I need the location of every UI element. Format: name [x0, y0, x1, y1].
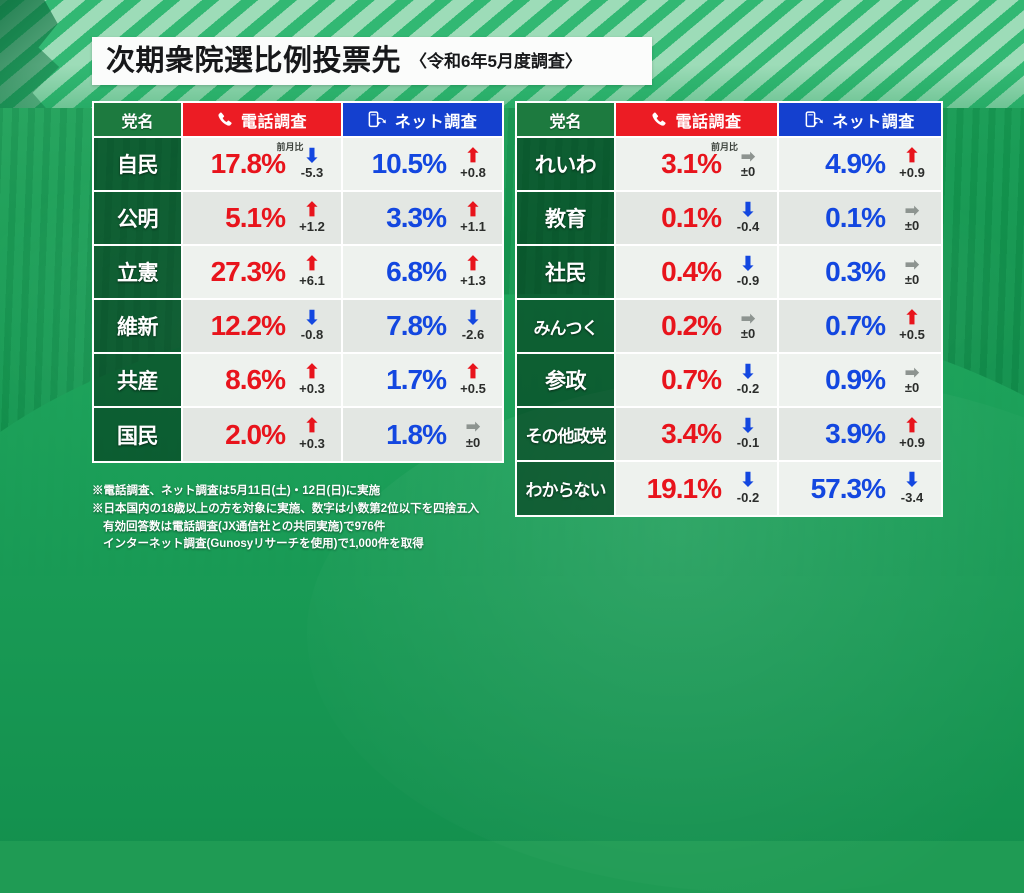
net-value-cell: 0.1%➡±0 [778, 191, 941, 245]
phone-value-cell: 19.1%⬇-0.2 [615, 461, 778, 515]
net-value-cell: 7.8%⬇-2.6 [342, 299, 502, 353]
net-percentage: 3.9% [825, 420, 885, 448]
trend-flat-arrow-icon: ➡ [741, 150, 755, 164]
delta-value: -0.8 [301, 328, 323, 341]
delta-value: ±0 [905, 219, 919, 232]
poll-table-left-body: 自民17.8%前月比⬇-5.310.5%⬆+0.8公明5.1%⬆+1.23.3%… [94, 137, 502, 461]
table-row: 参政0.7%⬇-0.20.9%➡±0 [517, 353, 941, 407]
phone-delta: ⬆+1.2 [291, 203, 333, 233]
phone-delta: ⬇-0.9 [727, 257, 769, 287]
net-percentage: 1.8% [386, 421, 446, 449]
phone-percentage: 0.1% [661, 204, 721, 232]
table-row: 公明5.1%⬆+1.23.3%⬆+1.1 [94, 191, 502, 245]
table-row: わからない19.1%⬇-0.257.3%⬇-3.4 [517, 461, 941, 515]
party-name-cell: 参政 [517, 353, 615, 407]
party-name-cell: 立憲 [94, 245, 182, 299]
party-name-cell: 国民 [94, 407, 182, 461]
delta-value: -0.9 [737, 274, 759, 287]
table-row: 国民2.0%⬆+0.31.8%➡±0 [94, 407, 502, 461]
table-row: れいわ3.1%前月比➡±04.9%⬆+0.9 [517, 137, 941, 191]
net-value-cell: 3.9%⬆+0.9 [778, 407, 941, 461]
party-name-cell: 自民 [94, 137, 182, 191]
phone-value-cell: 8.6%⬆+0.3 [182, 353, 342, 407]
phone-value-cell: 3.1%前月比➡±0 [615, 137, 778, 191]
net-delta: ⬇-3.4 [891, 473, 933, 503]
phone-value-cell: 0.2%➡±0 [615, 299, 778, 353]
trend-up-arrow-icon: ⬆ [304, 203, 320, 219]
trend-down-arrow-icon: ⬇ [304, 149, 320, 165]
delta-value: -5.3 [301, 166, 323, 179]
phone-percentage: 17.8% [211, 150, 285, 178]
party-name-cell: 公明 [94, 191, 182, 245]
trend-down-arrow-icon: ⬇ [740, 419, 756, 435]
trend-down-arrow-icon: ⬇ [740, 257, 756, 273]
column-header-net-label: ネット調査 [395, 108, 478, 132]
net-delta: ⬆+1.3 [452, 257, 494, 287]
trend-flat-arrow-icon: ➡ [466, 420, 480, 434]
column-header-net-label: ネット調査 [832, 108, 915, 132]
net-value-cell: 4.9%⬆+0.9 [778, 137, 941, 191]
phone-value-cell: 0.1%⬇-0.4 [615, 191, 778, 245]
phone-percentage: 19.1% [647, 475, 721, 503]
trend-up-arrow-icon: ⬆ [465, 203, 481, 219]
month-over-month-label: 前月比 [711, 140, 738, 153]
smartphone-cursor-icon [368, 111, 388, 129]
trend-up-arrow-icon: ⬆ [465, 149, 481, 165]
phone-value-cell: 27.3%⬆+6.1 [182, 245, 342, 299]
delta-value: +0.9 [899, 166, 925, 179]
phone-percentage: 0.7% [661, 366, 721, 394]
delta-value: ±0 [905, 381, 919, 394]
net-delta: ⬆+1.1 [452, 203, 494, 233]
trend-down-arrow-icon: ⬇ [740, 473, 756, 489]
month-over-month-label: 前月比 [276, 140, 303, 153]
table-header-row: 党名 電話調査 [517, 103, 941, 137]
delta-value: +0.3 [299, 437, 325, 450]
column-header-phone-label: 電話調査 [675, 108, 741, 132]
net-percentage: 3.3% [386, 204, 446, 232]
poll-table-right-grid: 党名 電話調査 [517, 103, 941, 515]
delta-value: ±0 [905, 273, 919, 286]
party-name-cell: れいわ [517, 137, 615, 191]
delta-value: +6.1 [299, 274, 325, 287]
poll-table-left: 党名 電話調査 [92, 101, 504, 463]
trend-up-arrow-icon: ⬆ [304, 419, 320, 435]
table-row: 維新12.2%⬇-0.87.8%⬇-2.6 [94, 299, 502, 353]
footnote-1: ※電話調査、ネット調査は5月11日(土)・12日(日)に実施 [92, 483, 522, 501]
smartphone-cursor-icon [805, 111, 825, 129]
trend-up-arrow-icon: ⬆ [904, 311, 920, 327]
phone-delta: ➡±0 [727, 312, 769, 340]
phone-value-cell: 3.4%⬇-0.1 [615, 407, 778, 461]
net-percentage: 6.8% [386, 258, 446, 286]
telephone-handset-icon [217, 111, 234, 128]
trend-flat-arrow-icon: ➡ [741, 312, 755, 326]
party-name-cell: みんつく [517, 299, 615, 353]
poll-table-right-body: れいわ3.1%前月比➡±04.9%⬆+0.9教育0.1%⬇-0.40.1%➡±0… [517, 137, 941, 515]
phone-percentage: 3.1% [661, 150, 721, 178]
trend-down-arrow-icon: ⬇ [740, 365, 756, 381]
trend-down-arrow-icon: ⬇ [465, 311, 481, 327]
net-value-cell: 1.7%⬆+0.5 [342, 353, 502, 407]
delta-value: +1.1 [460, 220, 486, 233]
phone-delta: 前月比➡±0 [727, 150, 769, 178]
page-subtitle: 〈令和6年5月度調査〉 [410, 53, 582, 70]
net-delta: ⬇-2.6 [452, 311, 494, 341]
phone-percentage: 8.6% [225, 366, 285, 394]
title-band: 次期衆院選比例投票先 〈令和6年5月度調査〉 [92, 37, 652, 85]
phone-delta: ⬇-0.1 [727, 419, 769, 449]
phone-delta: ⬇-0.2 [727, 473, 769, 503]
column-header-net-survey: ネット調査 [342, 103, 502, 137]
party-name-cell: 社民 [517, 245, 615, 299]
trend-up-arrow-icon: ⬆ [465, 257, 481, 273]
net-percentage: 1.7% [386, 366, 446, 394]
phone-delta: ⬇-0.4 [727, 203, 769, 233]
table-row: 立憲27.3%⬆+6.16.8%⬆+1.3 [94, 245, 502, 299]
column-header-party: 党名 [517, 103, 615, 137]
phone-value-cell: 2.0%⬆+0.3 [182, 407, 342, 461]
net-percentage: 4.9% [825, 150, 885, 178]
party-name-cell: その他政党 [517, 407, 615, 461]
net-value-cell: 0.9%➡±0 [778, 353, 941, 407]
phone-value-cell: 5.1%⬆+1.2 [182, 191, 342, 245]
delta-value: -0.1 [737, 436, 759, 449]
net-value-cell: 6.8%⬆+1.3 [342, 245, 502, 299]
poll-table-left-grid: 党名 電話調査 [94, 103, 502, 461]
table-row: 自民17.8%前月比⬇-5.310.5%⬆+0.8 [94, 137, 502, 191]
table-row: みんつく0.2%➡±00.7%⬆+0.5 [517, 299, 941, 353]
footnote-4: インターネット調査(Gunosyリサーチを使用)で1,000件を取得 [92, 536, 522, 554]
phone-delta: 前月比⬇-5.3 [291, 149, 333, 179]
column-header-net-survey: ネット調査 [778, 103, 941, 137]
phone-delta: ⬇-0.2 [727, 365, 769, 395]
table-row: その他政党3.4%⬇-0.13.9%⬆+0.9 [517, 407, 941, 461]
phone-delta: ⬆+0.3 [291, 365, 333, 395]
net-value-cell: 3.3%⬆+1.1 [342, 191, 502, 245]
delta-value: +0.3 [299, 382, 325, 395]
trend-up-arrow-icon: ⬆ [304, 365, 320, 381]
poll-table-right: 党名 電話調査 [515, 101, 943, 517]
net-percentage: 57.3% [811, 475, 885, 503]
net-percentage: 0.3% [825, 258, 885, 286]
telephone-handset-icon [651, 111, 668, 128]
table-header-row: 党名 電話調査 [94, 103, 502, 137]
delta-value: -0.4 [737, 220, 759, 233]
trend-up-arrow-icon: ⬆ [904, 419, 920, 435]
delta-value: -3.4 [901, 491, 923, 504]
phone-value-cell: 0.7%⬇-0.2 [615, 353, 778, 407]
trend-down-arrow-icon: ⬇ [740, 203, 756, 219]
delta-value: ±0 [741, 165, 755, 178]
delta-value: +1.3 [460, 274, 486, 287]
net-value-cell: 0.7%⬆+0.5 [778, 299, 941, 353]
phone-delta: ⬇-0.8 [291, 311, 333, 341]
delta-value: +0.8 [460, 166, 486, 179]
trend-flat-arrow-icon: ➡ [905, 204, 919, 218]
delta-value: +0.5 [460, 382, 486, 395]
phone-value-cell: 0.4%⬇-0.9 [615, 245, 778, 299]
phone-percentage: 27.3% [211, 258, 285, 286]
delta-value: ±0 [466, 436, 480, 449]
phone-delta: ⬆+0.3 [291, 419, 333, 449]
net-value-cell: 0.3%➡±0 [778, 245, 941, 299]
trend-up-arrow-icon: ⬆ [904, 149, 920, 165]
net-percentage: 0.1% [825, 204, 885, 232]
net-percentage: 0.7% [825, 312, 885, 340]
footnote-2: ※日本国内の18歳以上の方を対象に実施、数字は小数第2位以下を四捨五入 [92, 501, 522, 519]
net-delta: ➡±0 [891, 204, 933, 232]
phone-percentage: 0.4% [661, 258, 721, 286]
net-delta: ➡±0 [891, 366, 933, 394]
phone-delta: ⬆+6.1 [291, 257, 333, 287]
trend-down-arrow-icon: ⬇ [904, 473, 920, 489]
net-percentage: 10.5% [372, 150, 446, 178]
table-row: 社民0.4%⬇-0.90.3%➡±0 [517, 245, 941, 299]
phone-value-cell: 12.2%⬇-0.8 [182, 299, 342, 353]
net-delta: ⬆+0.9 [891, 419, 933, 449]
trend-up-arrow-icon: ⬆ [304, 257, 320, 273]
net-delta: ➡±0 [891, 258, 933, 286]
table-row: 共産8.6%⬆+0.31.7%⬆+0.5 [94, 353, 502, 407]
column-header-phone-label: 電話調査 [241, 108, 307, 132]
trend-down-arrow-icon: ⬇ [304, 311, 320, 327]
trend-flat-arrow-icon: ➡ [905, 258, 919, 272]
delta-value: +0.9 [899, 436, 925, 449]
party-name-cell: 教育 [517, 191, 615, 245]
net-percentage: 7.8% [386, 312, 446, 340]
footnote-3: 有効回答数は電話調査(JX通信社との共同実施)で976件 [92, 519, 522, 537]
column-header-phone-survey: 電話調査 [182, 103, 342, 137]
delta-value: +0.5 [899, 328, 925, 341]
delta-value: ±0 [741, 327, 755, 340]
column-header-party: 党名 [94, 103, 182, 137]
footnotes: ※電話調査、ネット調査は5月11日(土)・12日(日)に実施 ※日本国内の18歳… [92, 483, 522, 554]
net-percentage: 0.9% [825, 366, 885, 394]
net-delta: ⬆+0.5 [452, 365, 494, 395]
net-delta: ⬆+0.8 [452, 149, 494, 179]
phone-percentage: 0.2% [661, 312, 721, 340]
column-header-phone-survey: 電話調査 [615, 103, 778, 137]
page-title: 次期衆院選比例投票先 [106, 47, 401, 76]
party-name-cell: 共産 [94, 353, 182, 407]
table-row: 教育0.1%⬇-0.40.1%➡±0 [517, 191, 941, 245]
phone-value-cell: 17.8%前月比⬇-5.3 [182, 137, 342, 191]
party-name-cell: 維新 [94, 299, 182, 353]
phone-percentage: 3.4% [661, 420, 721, 448]
net-delta: ➡±0 [452, 420, 494, 448]
trend-flat-arrow-icon: ➡ [905, 366, 919, 380]
phone-percentage: 12.2% [211, 312, 285, 340]
net-delta: ⬆+0.5 [891, 311, 933, 341]
net-value-cell: 1.8%➡±0 [342, 407, 502, 461]
delta-value: -2.6 [462, 328, 484, 341]
delta-value: -0.2 [737, 491, 759, 504]
net-delta: ⬆+0.9 [891, 149, 933, 179]
phone-percentage: 2.0% [225, 421, 285, 449]
net-value-cell: 10.5%⬆+0.8 [342, 137, 502, 191]
net-value-cell: 57.3%⬇-3.4 [778, 461, 941, 515]
phone-percentage: 5.1% [225, 204, 285, 232]
delta-value: -0.2 [737, 382, 759, 395]
trend-up-arrow-icon: ⬆ [465, 365, 481, 381]
party-name-cell: わからない [517, 461, 615, 515]
delta-value: +1.2 [299, 220, 325, 233]
